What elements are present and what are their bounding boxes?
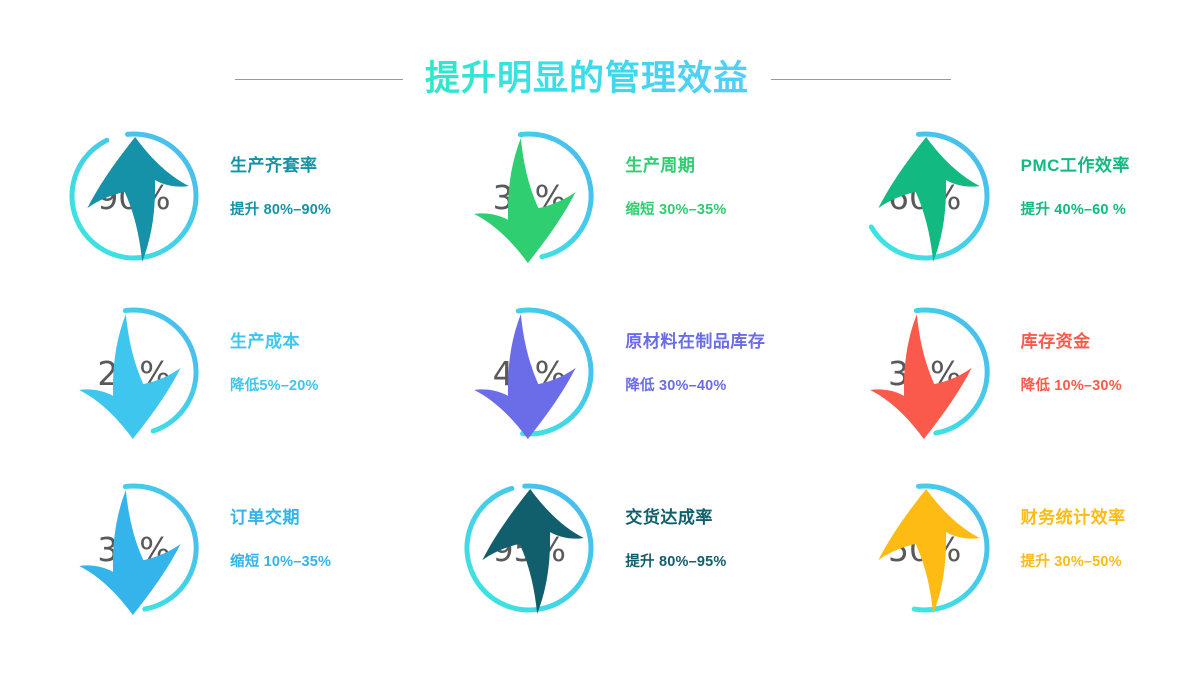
- ring-center: 35%: [459, 126, 599, 266]
- ring-center: 20%: [64, 302, 204, 442]
- title-rule-left: [235, 79, 403, 80]
- progress-ring: 60%: [855, 126, 995, 266]
- metric-card[interactable]: 95%交货达成率提升 80%–95%: [395, 478, 790, 654]
- metric-delta: 降低 10%–30%: [1021, 374, 1122, 395]
- arrow-up-icon: [855, 482, 995, 622]
- progress-ring: 35%: [64, 478, 204, 618]
- progress-ring: 30%: [855, 302, 995, 442]
- metric-delta: 提升 30%–50%: [1021, 550, 1126, 571]
- metric-delta: 提升 40%–60 %: [1021, 198, 1130, 219]
- ring-center: 95%: [459, 478, 599, 618]
- arrow-down-icon: [64, 306, 204, 446]
- metric-card[interactable]: 35%生产周期缩短 30%–35%: [395, 126, 790, 302]
- progress-ring: 95%: [459, 478, 599, 618]
- metric-info: 原材料在制品库存降低 30%–40%: [599, 302, 765, 395]
- metric-delta: 提升 80%–90%: [230, 198, 331, 219]
- metric-name: PMC工作效率: [1021, 156, 1130, 176]
- metric-name: 原材料在制品库存: [625, 332, 765, 352]
- metrics-grid: 90%生产齐套率提升 80%–90%35%生产周期缩短 30%–35%60%PM…: [0, 126, 1186, 656]
- metric-name: 订单交期: [230, 508, 331, 528]
- progress-ring: 50%: [855, 478, 995, 618]
- ring-center: 60%: [855, 126, 995, 266]
- metric-info: 财务统计效率提升 30%–50%: [995, 478, 1126, 571]
- metric-name: 库存资金: [1021, 332, 1122, 352]
- metric-card[interactable]: 20%生产成本降低5%–20%: [0, 302, 395, 478]
- metric-name: 生产齐套率: [230, 156, 331, 176]
- metric-info: PMC工作效率提升 40%–60 %: [995, 126, 1130, 219]
- page-header: 提升明显的管理效益: [0, 52, 1186, 106]
- arrow-down-icon: [64, 482, 204, 622]
- metric-card[interactable]: 90%生产齐套率提升 80%–90%: [0, 126, 395, 302]
- metric-delta: 降低5%–20%: [230, 374, 319, 395]
- title-rule-right: [771, 79, 951, 80]
- metric-name: 生产成本: [230, 332, 319, 352]
- metric-name: 生产周期: [625, 156, 726, 176]
- metric-delta: 缩短 30%–35%: [625, 198, 726, 219]
- metric-delta: 缩短 10%–35%: [230, 550, 331, 571]
- arrow-down-icon: [459, 130, 599, 270]
- ring-center: 40%: [459, 302, 599, 442]
- progress-ring: 40%: [459, 302, 599, 442]
- metric-delta: 提升 80%–95%: [625, 550, 726, 571]
- metric-info: 生产成本降低5%–20%: [204, 302, 319, 395]
- metric-info: 库存资金降低 10%–30%: [995, 302, 1122, 395]
- progress-ring: 20%: [64, 302, 204, 442]
- progress-ring: 90%: [64, 126, 204, 266]
- metric-delta: 降低 30%–40%: [625, 374, 765, 395]
- metric-card[interactable]: 35%订单交期缩短 10%–35%: [0, 478, 395, 654]
- metric-info: 交货达成率提升 80%–95%: [599, 478, 726, 571]
- arrow-up-icon: [459, 482, 599, 622]
- metric-card[interactable]: 40%原材料在制品库存降低 30%–40%: [395, 302, 790, 478]
- metric-name: 财务统计效率: [1021, 508, 1126, 528]
- metric-card[interactable]: 50%财务统计效率提升 30%–50%: [791, 478, 1186, 654]
- metric-card[interactable]: 60%PMC工作效率提升 40%–60 %: [791, 126, 1186, 302]
- ring-center: 35%: [64, 478, 204, 618]
- metric-info: 订单交期缩短 10%–35%: [204, 478, 331, 571]
- progress-ring: 35%: [459, 126, 599, 266]
- arrow-up-icon: [855, 130, 995, 270]
- ring-center: 90%: [64, 126, 204, 266]
- ring-center: 50%: [855, 478, 995, 618]
- ring-center: 30%: [855, 302, 995, 442]
- arrow-down-icon: [855, 306, 995, 446]
- metric-info: 生产周期缩短 30%–35%: [599, 126, 726, 219]
- arrow-up-icon: [64, 130, 204, 270]
- metric-info: 生产齐套率提升 80%–90%: [204, 126, 331, 219]
- metric-card[interactable]: 30%库存资金降低 10%–30%: [791, 302, 1186, 478]
- arrow-down-icon: [459, 306, 599, 446]
- metric-name: 交货达成率: [625, 508, 726, 528]
- page-title: 提升明显的管理效益: [425, 58, 749, 100]
